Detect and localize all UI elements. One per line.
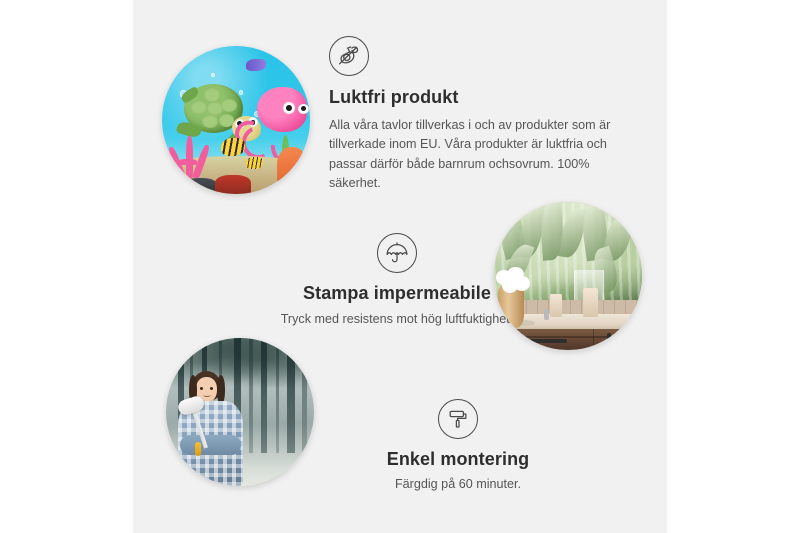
feature-odorless: Luktfri produkt Alla våra tavlor tillver… xyxy=(329,36,629,194)
bathroom-leaf-wallpaper-image xyxy=(494,202,642,350)
paint-roller-icon xyxy=(438,399,478,439)
feature-odorless-body: Alla våra tavlor tillverkas i och av pro… xyxy=(329,116,629,194)
no-fragrance-icon xyxy=(329,36,369,76)
umbrella-icon xyxy=(377,233,417,273)
woman-paint-roller-forest-image xyxy=(166,338,314,486)
underwater-kids-scene-image xyxy=(162,46,310,194)
feature-mounting-title: Enkel montering xyxy=(328,448,588,471)
feature-mounting: Enkel montering Färgdig på 60 minuter. xyxy=(328,399,588,494)
feature-odorless-title: Luktfri produkt xyxy=(329,86,629,109)
screenshot-root: Luktfri produkt Alla våra tavlor tillver… xyxy=(0,0,800,533)
content-panel: Luktfri produkt Alla våra tavlor tillver… xyxy=(133,0,667,533)
feature-mounting-body: Färgdig på 60 minuter. xyxy=(328,475,588,495)
